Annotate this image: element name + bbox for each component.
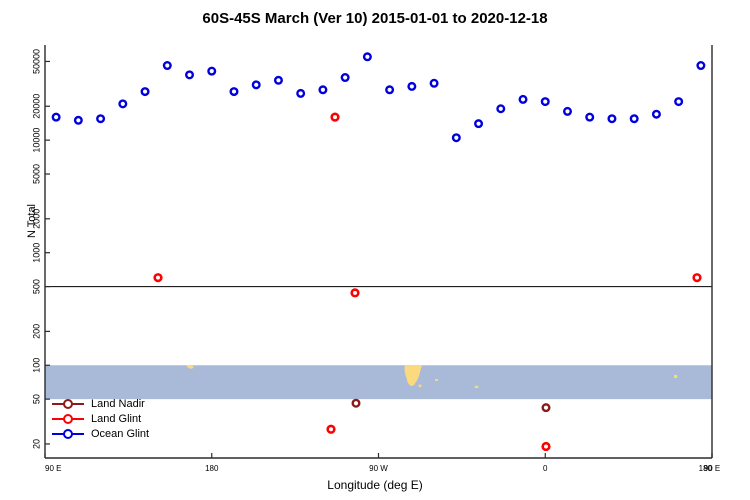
y-tick-label-200: 200 [31,324,41,339]
x-tick-label-1: 180 [205,464,219,473]
y-tick-label-2000: 2000 [31,209,41,229]
data-point-ocean-glint-6[interactable] [186,72,193,79]
y-tick-label-20000: 20000 [31,94,41,119]
legend-item-land-glint[interactable]: Land Glint [52,411,149,426]
data-point-ocean-glint-0[interactable] [53,114,60,121]
x-tick-label-5: 180 [699,464,713,473]
legend-item-land-nadir[interactable]: Land Nadir [52,396,149,411]
legend-item-ocean-glint[interactable]: Ocean Glint [52,426,149,441]
data-point-ocean-glint-17[interactable] [431,80,438,87]
y-tick-label-5000: 5000 [31,164,41,184]
data-point-ocean-glint-11[interactable] [297,90,304,97]
data-point-ocean-glint-26[interactable] [631,115,638,122]
legend-marker-land-glint [52,413,84,425]
data-point-ocean-glint-28[interactable] [675,98,682,105]
data-point-land-glint-1[interactable] [332,114,339,121]
data-point-land-glint-3[interactable] [328,426,335,433]
data-point-ocean-glint-19[interactable] [475,120,482,127]
map-land-south-georgia-island [475,386,479,388]
x-tick-label-0: 90 E [45,464,61,473]
data-point-ocean-glint-8[interactable] [231,88,238,95]
map-band-layer [45,365,750,399]
map-ocean-band [45,365,712,399]
x-tick-label-2: 90 W [369,464,388,473]
y-tick-label-500: 500 [31,279,41,294]
legend-marker-land-nadir [52,398,84,410]
data-point-land-glint-5[interactable] [694,274,701,281]
x-tick-layer: 90 E18090 W090 E180 [45,453,720,473]
data-point-ocean-glint-23[interactable] [564,108,571,115]
data-point-land-glint-2[interactable] [352,290,359,297]
data-point-ocean-glint-4[interactable] [142,88,149,95]
x-tick-label-3: 0 [543,464,548,473]
chart-root: 60S-45S March (Ver 10) 2015-01-01 to 202… [0,0,750,500]
data-point-ocean-glint-1[interactable] [75,117,82,124]
data-point-ocean-glint-2[interactable] [97,115,104,122]
data-point-ocean-glint-20[interactable] [497,105,504,112]
data-point-ocean-glint-21[interactable] [520,96,527,103]
data-point-ocean-glint-27[interactable] [653,111,660,118]
data-point-ocean-glint-5[interactable] [164,62,171,69]
y-tick-label-50000: 50000 [31,49,41,74]
data-point-ocean-glint-3[interactable] [120,101,127,108]
data-point-ocean-glint-9[interactable] [253,82,260,89]
data-point-ocean-glint-12[interactable] [320,86,327,93]
y-tick-label-10000: 10000 [31,128,41,153]
data-point-ocean-glint-25[interactable] [609,115,616,122]
legend-marker-ocean-glint [52,428,84,440]
legend-label-ocean-glint: Ocean Glint [91,428,149,440]
data-point-ocean-glint-22[interactable] [542,98,549,105]
y-tick-label-1000: 1000 [31,243,41,263]
data-point-ocean-glint-18[interactable] [453,134,460,141]
chart-legend: Land Nadir Land Glint Ocean Glint [52,396,149,441]
y-tick-label-20: 20 [31,439,41,449]
map-land-kerguelen [674,375,677,378]
data-point-ocean-glint-15[interactable] [386,86,393,93]
y-tick-label-50: 50 [31,394,41,404]
data-point-ocean-glint-16[interactable] [409,83,416,90]
map-land-falklands [435,379,438,381]
legend-label-land-glint: Land Glint [91,413,141,425]
data-point-ocean-glint-10[interactable] [275,77,282,84]
legend-label-land-nadir: Land Nadir [91,398,145,410]
data-point-land-glint-0[interactable] [155,274,162,281]
data-point-ocean-glint-24[interactable] [586,114,593,121]
y-tick-label-100: 100 [31,358,41,373]
data-point-ocean-glint-14[interactable] [364,53,371,60]
data-point-ocean-glint-7[interactable] [208,68,215,75]
data-point-ocean-glint-13[interactable] [342,74,349,81]
data-point-ocean-glint-29[interactable] [698,62,705,69]
data-point-land-nadir-0[interactable] [353,400,360,407]
data-point-land-nadir-1[interactable] [543,404,550,411]
data-point-land-glint-4[interactable] [543,443,550,450]
